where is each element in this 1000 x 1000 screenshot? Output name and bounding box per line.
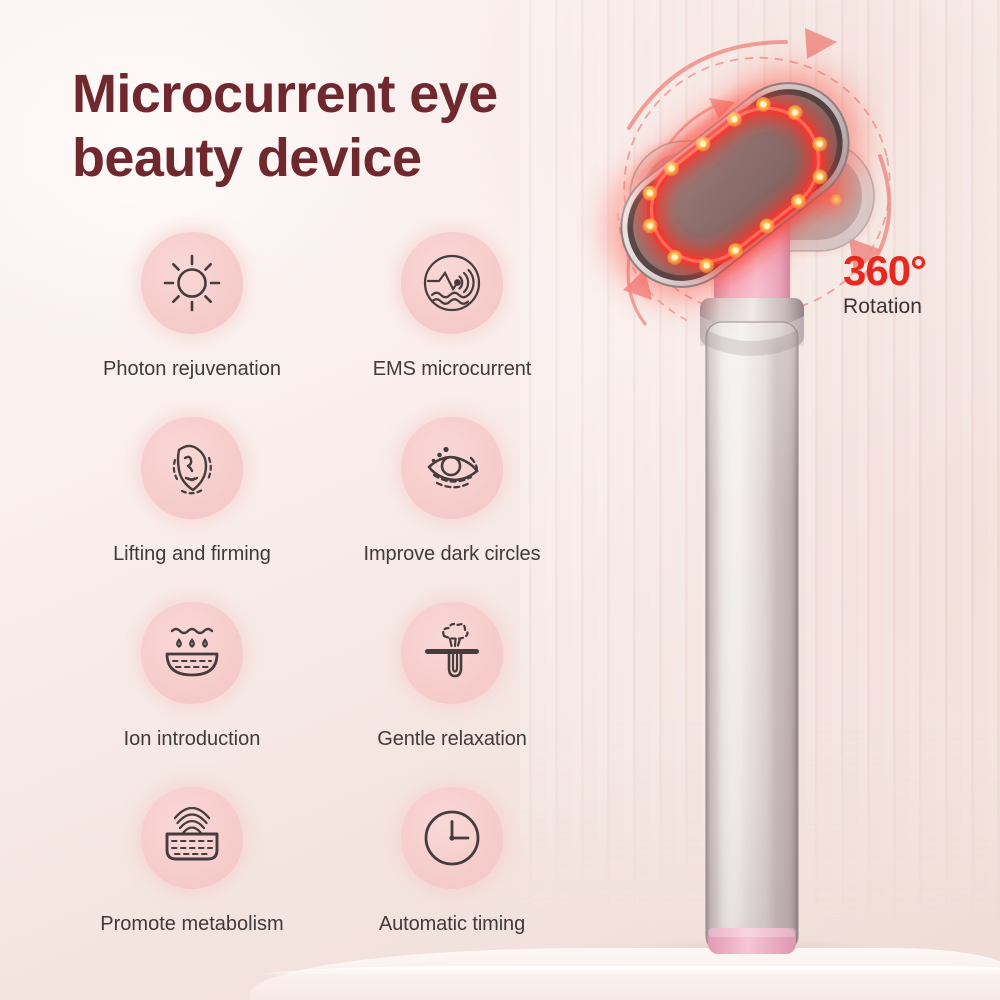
rotation-label: Rotation — [843, 295, 926, 319]
rotation-degrees: 360° — [843, 250, 926, 292]
product-illustration — [0, 0, 1000, 1000]
device-handle — [706, 322, 798, 954]
poster-canvas: Microcurrent eye beauty device — [0, 0, 1000, 1000]
rotation-badge: 360° Rotation — [843, 250, 926, 319]
